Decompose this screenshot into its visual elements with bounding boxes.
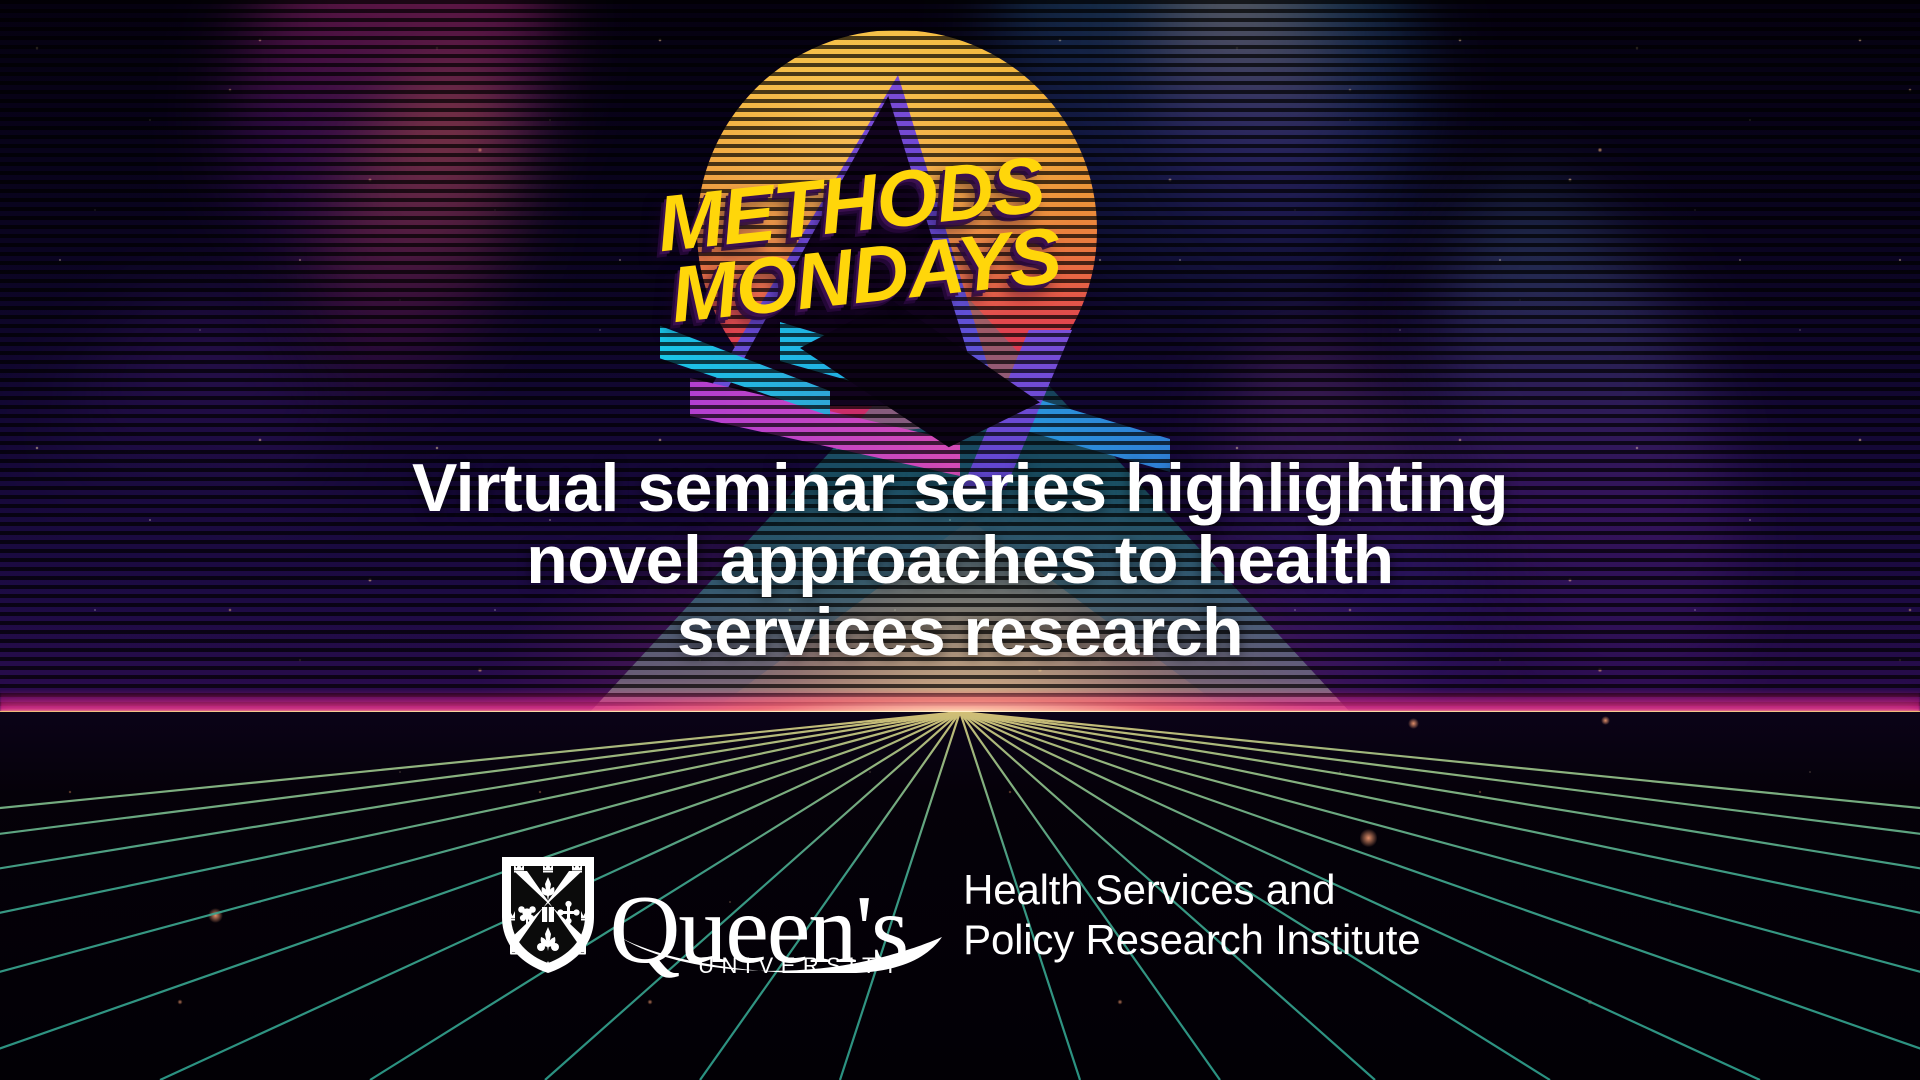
footer-branding: Queen's UNIVERSITY Health Services and P… [0, 855, 1920, 975]
institute-line-1: Health Services and [963, 865, 1420, 915]
queens-shield-icon [500, 855, 596, 975]
synthwave-banner: METHODS MONDAYS Virtual seminar series h… [0, 0, 1920, 1080]
headline-block: Virtual seminar series highlighting nove… [0, 452, 1920, 668]
headline-line-3: services research [0, 596, 1920, 668]
headline-line-1: Virtual seminar series highlighting [0, 452, 1920, 524]
queens-wordmark: Queen's UNIVERSITY [610, 885, 908, 975]
queens-university-logo: Queen's UNIVERSITY [500, 855, 908, 975]
queens-university-subtitle: UNIVERSITY [698, 953, 905, 979]
headline-line-2: novel approaches to health [0, 524, 1920, 596]
